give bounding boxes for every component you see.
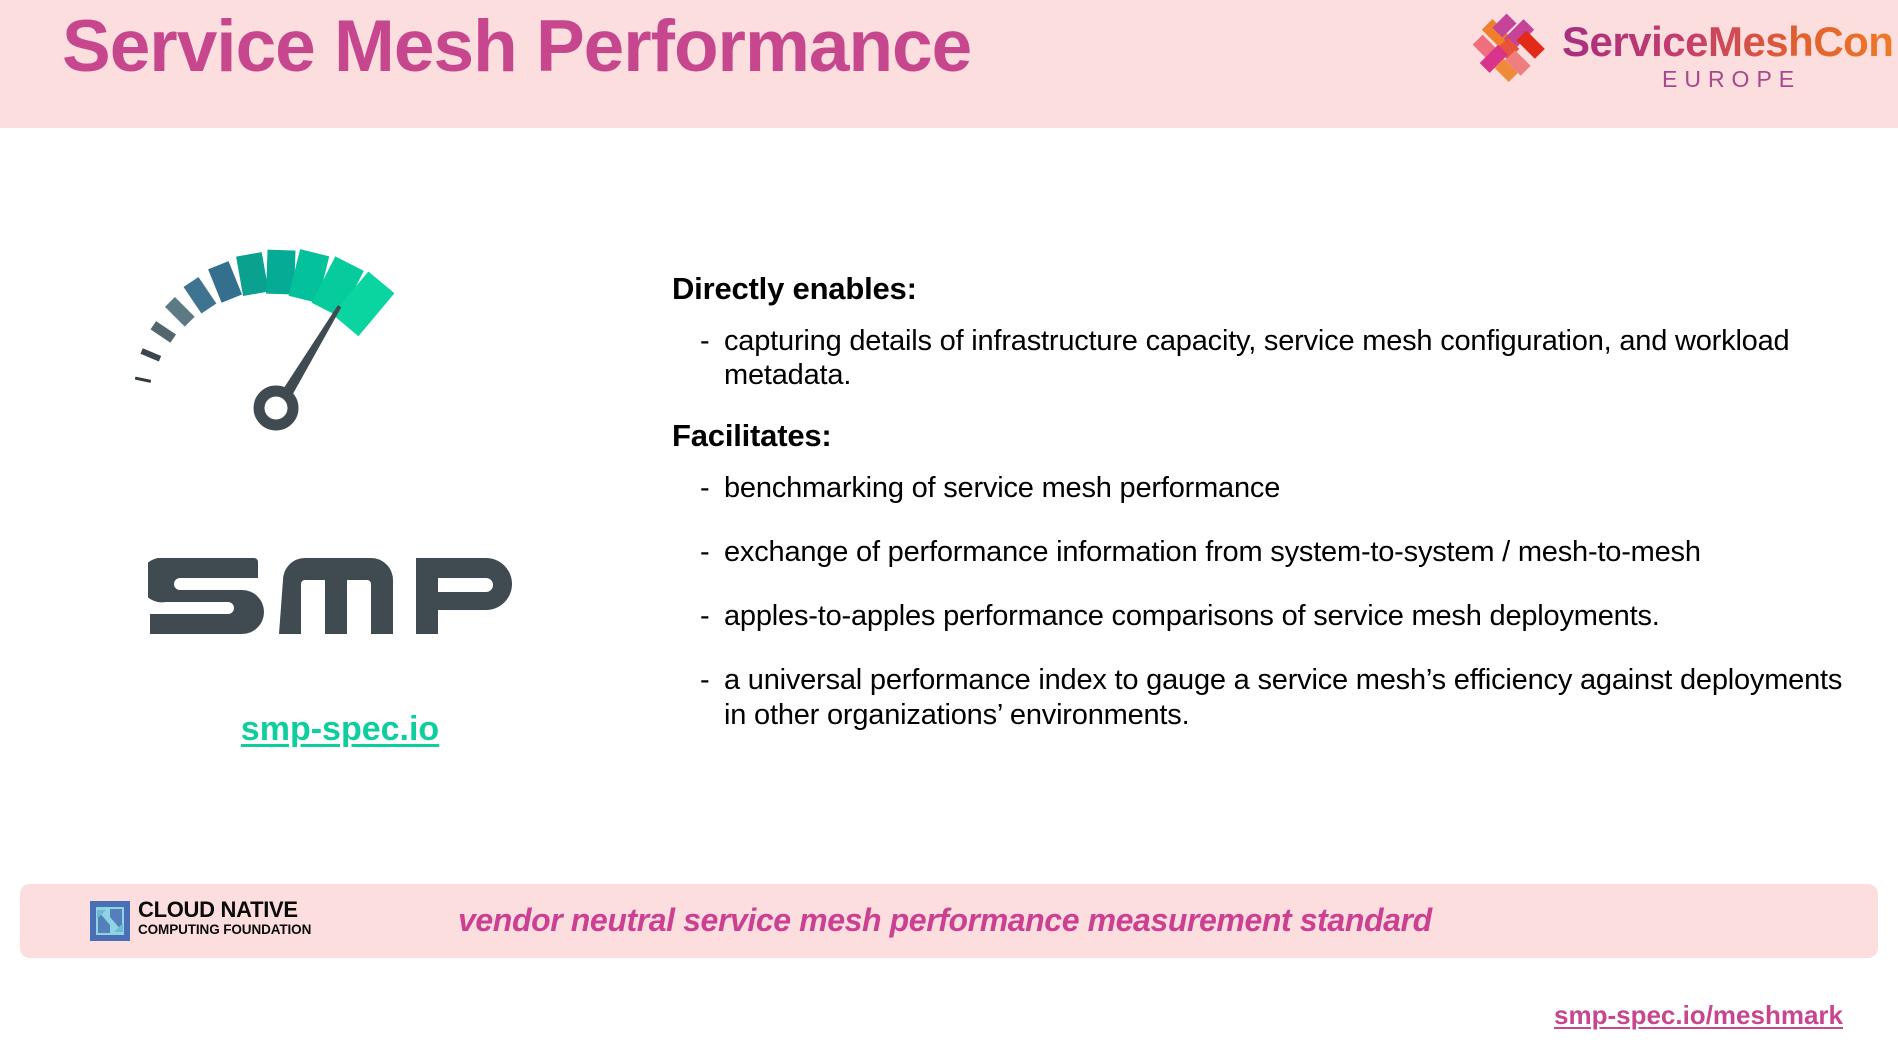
list-item: - a universal performance index to gauge… (672, 663, 1862, 731)
list-item: - benchmarking of service mesh performan… (672, 471, 1862, 505)
cncf-line-1: CLOUD NATIVE (138, 898, 311, 921)
cncf-text: CLOUD NATIVE COMPUTING FOUNDATION (138, 898, 311, 938)
bullet-dash: - (672, 663, 724, 697)
content-column: Directly enables: - capturing details of… (672, 272, 1862, 762)
section-heading-directly-enables: Directly enables: (672, 272, 1862, 306)
meshmark-link[interactable]: smp-spec.io/meshmark (1554, 1000, 1843, 1031)
smp-wordmark (148, 540, 528, 658)
bullet-text: exchange of performance information from… (724, 535, 1701, 569)
list-item: - apples-to-apples performance compariso… (672, 599, 1862, 633)
bullet-text: a universal performance index to gauge a… (724, 663, 1862, 731)
bullet-text: capturing details of infrastructure capa… (724, 324, 1862, 392)
servicemeshcon-subtitle: EUROPE (1662, 66, 1801, 93)
footer-banner: CLOUD NATIVE COMPUTING FOUNDATION vendor… (20, 884, 1878, 958)
page-title: Service Mesh Performance (62, 10, 971, 83)
bullet-list-directly-enables: - capturing details of infrastructure ca… (672, 324, 1862, 392)
performance-gauge (80, 240, 600, 540)
servicemeshcon-wordmark: ServiceMeshCon (1562, 18, 1893, 66)
servicemeshcon-logo: ServiceMeshCon EUROPE (1462, 4, 1890, 114)
bullet-dash: - (672, 535, 724, 569)
smp-logo-block (80, 240, 600, 660)
servicemeshcon-diamond-mark (1462, 6, 1554, 86)
bullet-dash: - (672, 599, 724, 633)
bullet-list-facilitates: - benchmarking of service mesh performan… (672, 471, 1862, 732)
bullet-dash: - (672, 324, 724, 358)
bullet-text: apples-to-apples performance comparisons… (724, 599, 1660, 633)
cncf-logo: CLOUD NATIVE COMPUTING FOUNDATION (88, 897, 338, 945)
bullet-dash: - (672, 471, 724, 505)
section-heading-facilitates: Facilitates: (672, 419, 1862, 453)
cncf-helm-icon (88, 899, 132, 943)
list-item: - capturing details of infrastructure ca… (672, 324, 1862, 392)
footer-tagline: vendor neutral service mesh performance … (458, 902, 1432, 939)
smp-spec-link[interactable]: smp-spec.io (80, 710, 600, 749)
bullet-text: benchmarking of service mesh performance (724, 471, 1280, 505)
list-item: - exchange of performance information fr… (672, 535, 1862, 569)
cncf-line-2: COMPUTING FOUNDATION (138, 923, 311, 938)
